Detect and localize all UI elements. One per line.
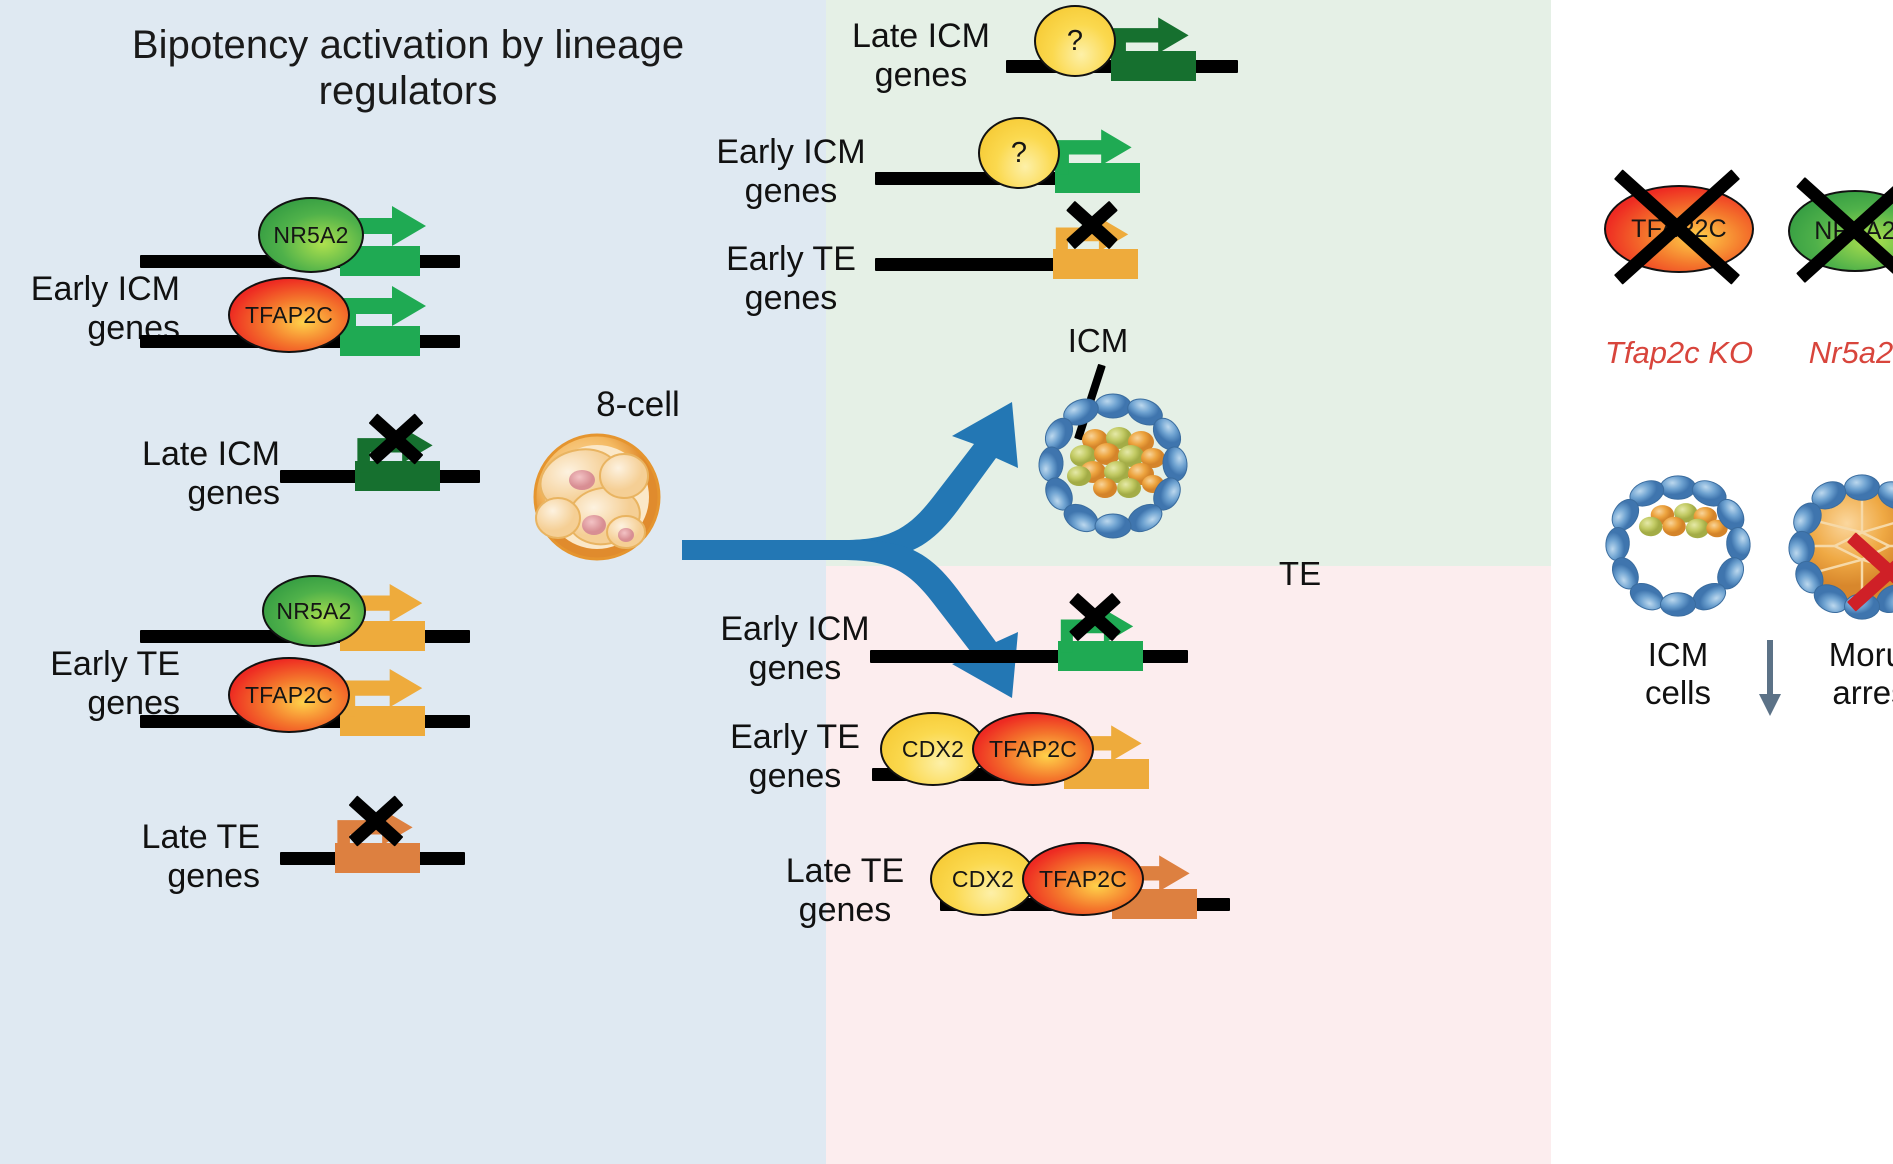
silenced-x-icon [1066, 588, 1124, 646]
ko-x-icon-nr5a2 [1782, 182, 1893, 278]
left-row-label-late-icm: Late ICM genes [80, 435, 280, 513]
transcription-arrow-green [1051, 124, 1137, 176]
tf-label: NR5A2 [276, 598, 351, 625]
ko-outcome-morula-arrest: Morul arres [1780, 636, 1893, 711]
tf-nr5a2: NR5A2 [258, 197, 364, 273]
te-row-label-early-te: Early TE genes [700, 718, 890, 796]
panel-title: Bipotency activation by lineage regulato… [128, 22, 688, 115]
tf-unknown-question: ? [1034, 5, 1116, 77]
tf-tfap2c: TFAP2C [228, 277, 350, 353]
silenced-x-icon [345, 790, 407, 852]
left-row-label-late-te: Late TE genes [60, 818, 260, 896]
blastocyst-icm-icon [1035, 388, 1191, 544]
transcription-arrow-dark-green [1108, 12, 1194, 64]
tf-cdx2: CDX2 [880, 712, 986, 786]
tf-label: ? [1011, 137, 1027, 170]
left-row-label-early-te: Early TE genes [0, 645, 180, 723]
tf-unknown-question: ? [978, 117, 1060, 189]
tf-cdx2: CDX2 [930, 842, 1036, 916]
tf-label: TFAP2C [245, 682, 333, 709]
silenced-x-icon [365, 408, 427, 470]
tf-tfap2c: TFAP2C [1022, 842, 1144, 916]
tf-label: TFAP2C [1039, 866, 1127, 893]
ko-x-icon-tfap2c [1598, 176, 1756, 278]
ko-label-nr5a2: Nr5a2 [1786, 335, 1893, 371]
tf-label: TFAP2C [245, 302, 333, 329]
ko-outcome-icm-cells: ICM cells [1598, 636, 1758, 711]
embryo-8cell-icon [532, 432, 662, 562]
silenced-x-icon [1063, 196, 1121, 254]
icm-row-label-early-te: Early TE genes [700, 240, 882, 318]
tf-label: ? [1067, 25, 1083, 58]
icm-row-label-late-icm: Late ICM genes [830, 17, 1012, 95]
te-row-label-late-te: Late TE genes [750, 852, 940, 930]
tf-label: CDX2 [952, 866, 1014, 893]
ko-label-tfap2c: Tfap2c KO [1604, 335, 1754, 371]
blastocyst-icm-label: ICM [1040, 322, 1156, 360]
arrest-x-icon [1838, 520, 1893, 624]
icm-row-label-early-icm: Early ICM genes [700, 133, 882, 211]
te-row-label-early-icm: Early ICM genes [700, 610, 890, 688]
tf-nr5a2: NR5A2 [262, 575, 366, 647]
tf-label: TFAP2C [989, 736, 1077, 763]
tf-label: CDX2 [902, 736, 964, 763]
tf-tfap2c: TFAP2C [972, 712, 1094, 786]
blastocyst-reduced-icm-icon [1602, 470, 1754, 622]
tf-label: NR5A2 [273, 222, 348, 249]
tf-tfap2c: TFAP2C [228, 657, 350, 733]
transcription-arrow-green [336, 280, 432, 338]
blastocyst-te-label: TE [1255, 555, 1345, 593]
